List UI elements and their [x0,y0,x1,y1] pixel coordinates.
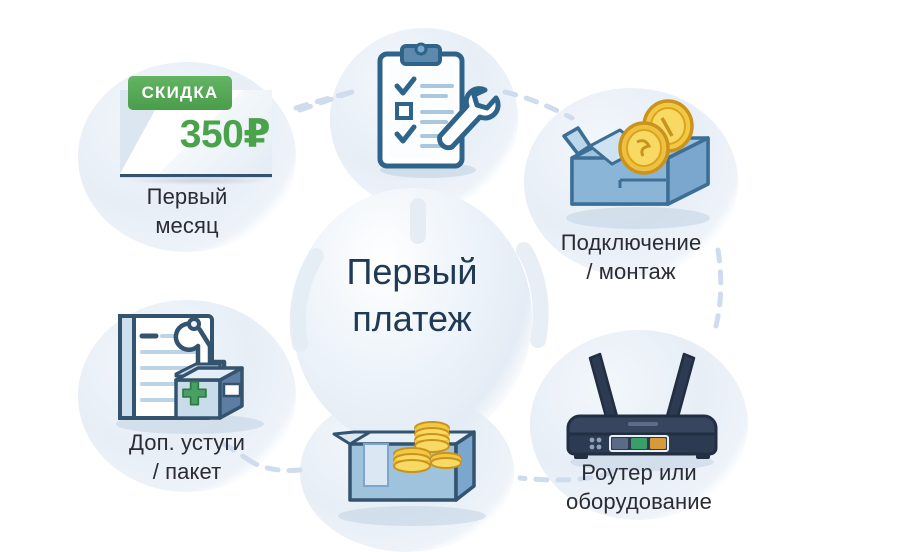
discount-price: 350₽ [180,112,270,157]
discount-card-icon: СКИДКА 350₽ [120,76,272,176]
node-label-connection-install: Подключение / монтаж [501,228,761,286]
node-connection-install[interactable]: Подключение / монтаж [524,88,738,276]
node-coins-box[interactable] [300,392,514,552]
node-checklist[interactable] [330,28,518,210]
node-label-first-month: Первый месяц [57,182,317,240]
open-box-coins-icon [316,398,506,538]
box-with-coins-icon [542,96,732,246]
discount-badge: СКИДКА [128,76,232,110]
node-extra-services[interactable]: Доп. устуги / пакет [78,300,296,492]
clipboard-wrench-icon [352,38,502,188]
node-first-month[interactable]: СКИДКА 350₽ Первый месяц [78,62,296,252]
node-label-extra-services: Доп. устуги / пакет [57,428,317,486]
node-router-equipment[interactable]: Роутер или оборудование [530,330,748,520]
node-label-router-equipment: Роутер или оборудование [509,458,769,516]
infographic-canvas: Первый платеж СКИДКА 350₽ Первый месяц [0,0,900,552]
